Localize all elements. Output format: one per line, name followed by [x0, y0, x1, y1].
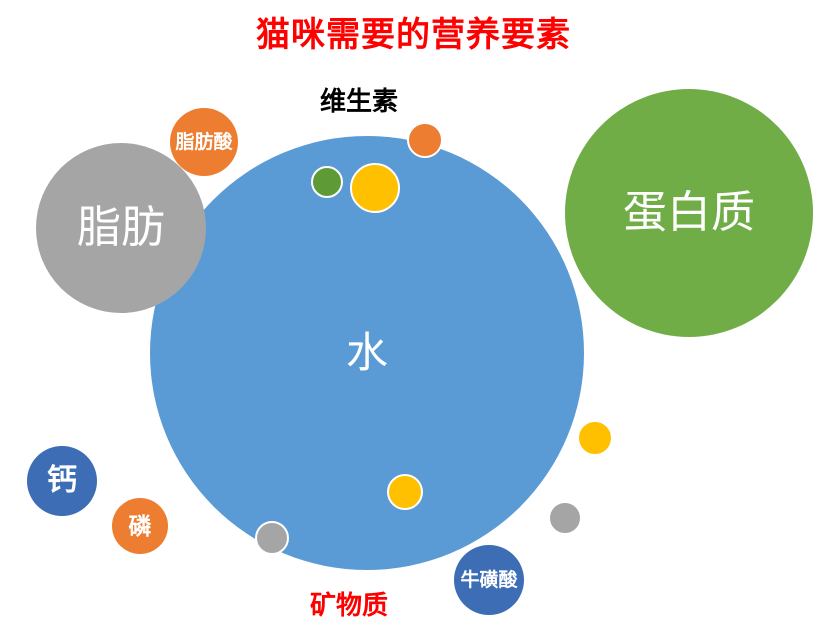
- mineral-dot-gray-left[interactable]: [255, 521, 289, 555]
- bubble-protein[interactable]: 蛋白质: [565, 89, 813, 337]
- bubble-fat[interactable]: 脂肪: [36, 143, 206, 313]
- bubble-fat-label: 脂肪: [77, 206, 165, 250]
- mineral-dot-yellow-right[interactable]: [577, 420, 613, 456]
- bubble-taurine[interactable]: 牛磺酸: [454, 545, 524, 615]
- label-vitamin: 维生素: [320, 88, 398, 114]
- vitamin-dot-green[interactable]: [311, 166, 343, 198]
- page-title: 猫咪需要的营养要素: [0, 16, 827, 55]
- bubble-fatty-acid[interactable]: 脂肪酸: [170, 108, 238, 176]
- label-mineral: 矿物质: [310, 592, 388, 618]
- bubble-calcium-label: 钙: [47, 466, 77, 496]
- bubble-taurine-label: 牛磺酸: [460, 571, 517, 590]
- mineral-dot-yellow-center[interactable]: [387, 474, 423, 510]
- bubble-fatty-acid-label: 脂肪酸: [175, 133, 232, 152]
- bubble-protein-label: 蛋白质: [623, 191, 755, 235]
- bubble-calcium[interactable]: 钙: [27, 446, 97, 516]
- vitamin-dot-yellow[interactable]: [350, 163, 400, 213]
- bubble-phosphorus[interactable]: 磷: [112, 498, 168, 554]
- mineral-dot-gray-right[interactable]: [548, 501, 582, 535]
- nutrition-bubble-diagram: 猫咪需要的营养要素 水 脂肪 蛋白质 脂肪酸 钙 磷 牛磺酸 维生素 矿物质: [0, 0, 827, 636]
- vitamin-dot-orange[interactable]: [407, 122, 443, 158]
- bubble-phosphorus-label: 磷: [129, 515, 152, 538]
- bubble-water-label: 水: [346, 332, 388, 374]
